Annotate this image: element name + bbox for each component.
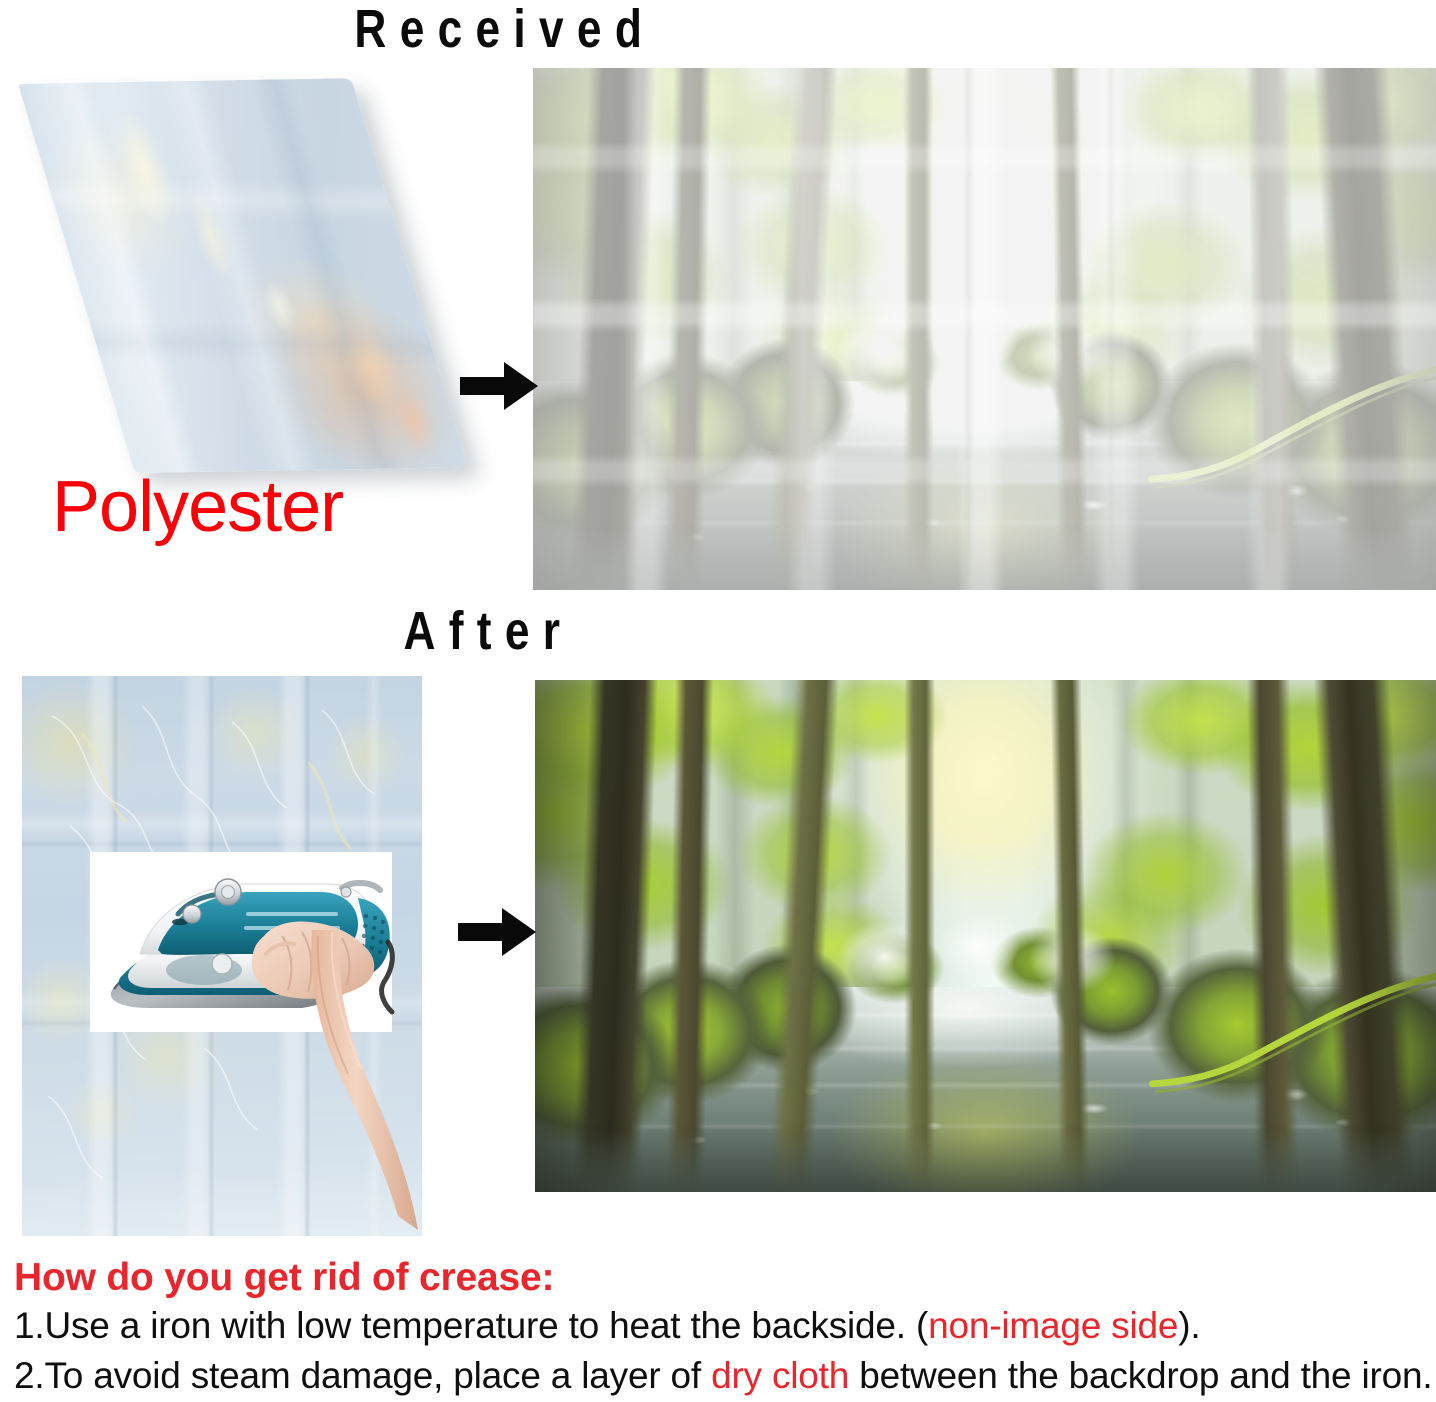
arrow-right-icon [460, 360, 538, 412]
received-backdrop-photo [533, 68, 1436, 590]
folded-fabric-sheet [18, 78, 468, 473]
received-section-title: Received [129, 2, 1307, 56]
care-instructions: How do you get rid of crease: 1.Use a ir… [14, 1256, 1428, 1400]
instructions-line-1-highlight: non-image side [928, 1305, 1178, 1346]
after-section-title: After [129, 604, 1307, 658]
received-crease-overlay [533, 68, 1436, 590]
arrow-right-icon [458, 906, 536, 958]
instructions-line-2-before: 2.To avoid steam damage, place a layer o… [14, 1355, 711, 1396]
instructions-heading: How do you get rid of crease: [14, 1256, 1428, 1300]
after-backdrop-photo [535, 680, 1436, 1192]
instructions-line-1-after: ). [1178, 1305, 1200, 1346]
instructions-line-1: 1.Use a iron with low temperature to hea… [14, 1302, 1428, 1350]
instructions-line-2-after: between the backdrop and the iron. [849, 1355, 1432, 1396]
forest-vignette-layer [535, 680, 1436, 1192]
instructions-line-1-before: 1.Use a iron with low temperature to hea… [14, 1305, 928, 1346]
folded-fabric-sample [18, 84, 418, 486]
polyester-material-label: Polyester [52, 466, 343, 548]
hand-icon [268, 930, 428, 1240]
instructions-line-2-highlight: dry cloth [711, 1355, 849, 1396]
instructions-line-2: 2.To avoid steam damage, place a layer o… [14, 1352, 1428, 1400]
